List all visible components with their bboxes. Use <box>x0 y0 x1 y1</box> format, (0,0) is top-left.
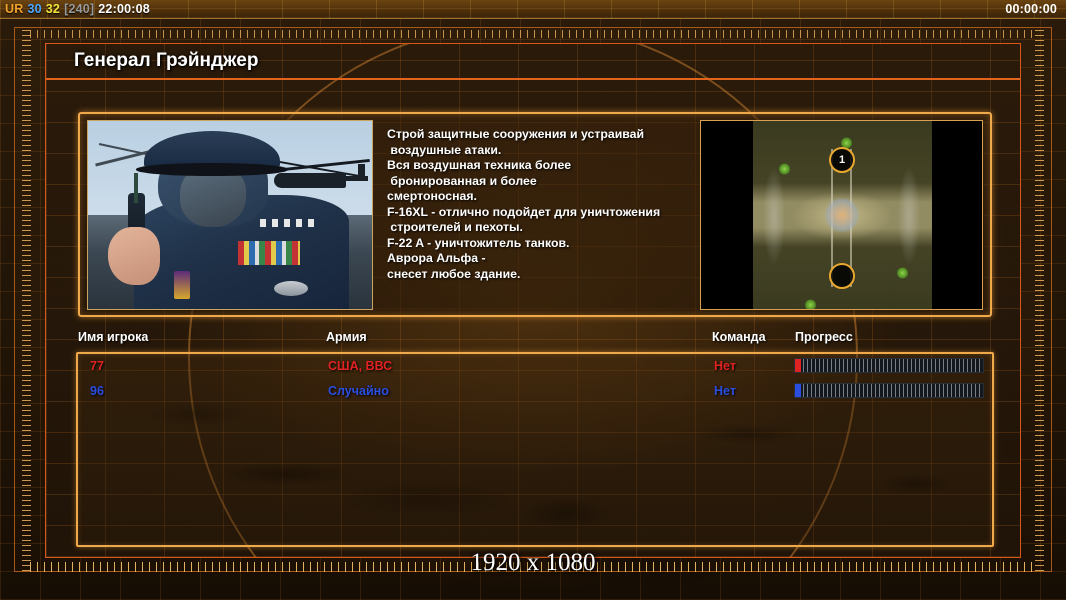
column-header-team: Команда <box>712 330 766 344</box>
player-army[interactable]: Случайно <box>328 384 389 398</box>
player-progress-bar <box>794 358 984 373</box>
player-name[interactable]: 77 <box>90 359 104 373</box>
player-army[interactable]: США, ВВС <box>328 359 392 373</box>
player-name[interactable]: 96 <box>90 384 104 398</box>
player-list: 77 США, ВВС Нет 96 Случайно Нет <box>76 352 994 547</box>
general-description: Строй защитные сооружения и устраивай во… <box>373 121 700 282</box>
minimap-tree-icon <box>805 299 816 310</box>
player-team[interactable]: Нет <box>714 384 736 398</box>
minimap-preview: 1 <box>700 120 983 310</box>
column-header-army: Армия <box>326 330 367 344</box>
minimap-tree-icon <box>897 267 908 279</box>
table-row[interactable]: 77 США, ВВС Нет <box>78 354 992 379</box>
service-ribbons-icon <box>238 241 300 265</box>
status-right-clock: 00:00:00 <box>1005 2 1061 16</box>
general-portrait <box>87 120 373 310</box>
game-lobby-screen: UR 30 32 [240] 22:00:08 00:00:00 Генерал… <box>0 0 1066 600</box>
status-value-blue: 30 <box>27 2 41 16</box>
status-bracket: [240] <box>64 2 94 16</box>
general-cap-brim <box>136 163 288 176</box>
column-header-progress: Прогресс <box>795 330 853 344</box>
panel-title-bar: Генерал Грэйнджер <box>46 44 1021 80</box>
general-info-box: Строй защитные сооружения и устраивай во… <box>78 112 992 317</box>
minimap-start-position-2[interactable] <box>829 263 855 289</box>
purple-heart-icon <box>174 271 190 299</box>
status-label: UR <box>5 2 23 16</box>
wings-badge-icon <box>274 281 308 296</box>
player-team[interactable]: Нет <box>714 359 736 373</box>
status-clock: 22:00:08 <box>98 2 150 16</box>
minimap-start-position-1[interactable]: 1 <box>829 147 855 173</box>
minimap-tree-icon <box>779 163 790 175</box>
ruler-left <box>22 28 31 571</box>
table-row[interactable]: 96 Случайно Нет <box>78 379 992 404</box>
main-panel: Генерал Грэйнджер <box>45 43 1021 558</box>
status-bar: UR 30 32 [240] 22:00:08 00:00:00 <box>0 0 1066 19</box>
resolution-label: 1920 x 1080 <box>0 549 1066 577</box>
minimap-center-objective <box>825 198 859 232</box>
player-list-header: Имя игрока Армия Команда Прогресс <box>78 330 992 352</box>
page-title: Генерал Грэйнджер <box>74 50 258 72</box>
player-progress-bar <box>794 383 984 398</box>
rank-stars-icon <box>260 219 318 227</box>
general-hand <box>108 227 160 285</box>
status-value-yellow: 32 <box>46 2 60 16</box>
radio-antenna-icon <box>134 173 138 203</box>
ruler-top <box>30 30 1036 38</box>
ruler-right <box>1035 28 1044 571</box>
column-header-name: Имя игрока <box>78 330 148 344</box>
